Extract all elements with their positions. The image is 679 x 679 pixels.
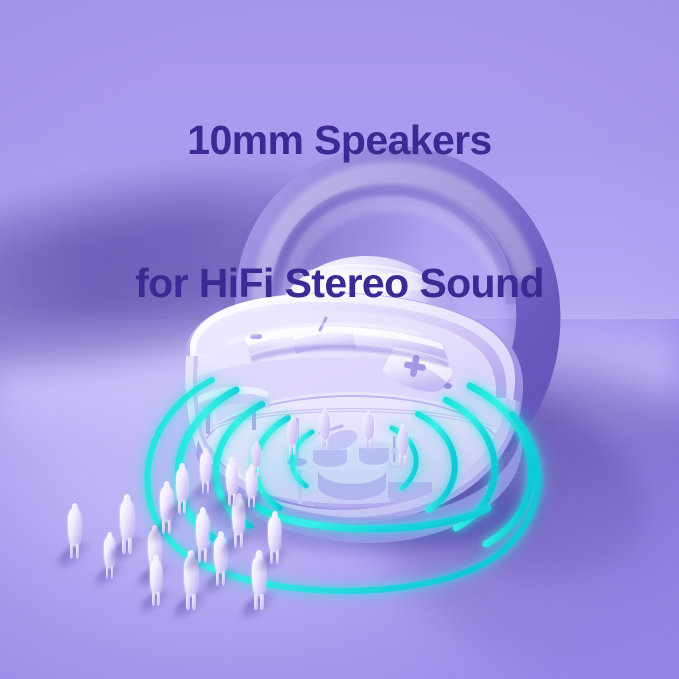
product-marketing-image: 10mm Speakers for HiFi Stereo Sound [0,0,679,679]
headline-line-2: for HiFi Stereo Sound [0,260,679,308]
page-title: 10mm Speakers for HiFi Stereo Sound [0,22,679,402]
headline-line-1: 10mm Speakers [0,117,679,165]
